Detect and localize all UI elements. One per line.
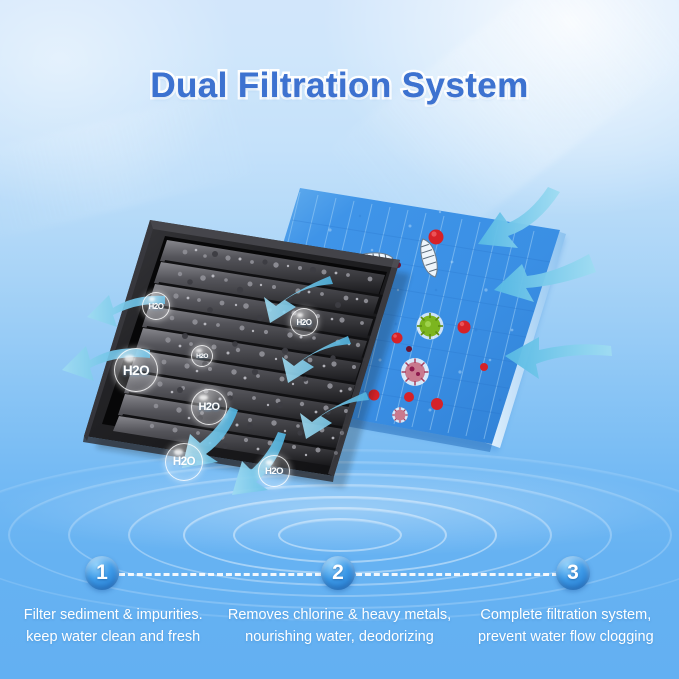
- light-streak-diagonal: [322, 0, 679, 271]
- caption-line-1: Filter sediment & impurities.: [0, 604, 226, 626]
- page-title: Dual Filtration System: [0, 66, 679, 106]
- h2o-label: H2O: [196, 353, 208, 360]
- virus-icon: [345, 297, 361, 313]
- red-particle-highlight: [372, 231, 464, 337]
- caption-line-2: prevent water flow clogging: [453, 626, 679, 648]
- water-inflow-arrows: [478, 187, 612, 379]
- h2o-bubble: H2O: [165, 443, 203, 481]
- bacteria-rod-icon: [416, 237, 442, 279]
- red-particle: [336, 230, 489, 411]
- inflow-arrow: [478, 187, 560, 248]
- dark-dot: [360, 262, 412, 352]
- h2o-bubble: H2O: [191, 389, 227, 425]
- carbon-slats: [113, 240, 385, 466]
- infographic-canvas: Dual Filtration System Dual Filtration S…: [0, 0, 679, 679]
- carbon-granules: [150, 249, 373, 456]
- step-caption-3: Complete filtration system, prevent wate…: [453, 604, 679, 648]
- caption-line-2: nourishing water, deodorizing: [226, 626, 452, 648]
- light-streak-secondary: [0, 85, 266, 245]
- contaminant-particles: [336, 230, 489, 423]
- contaminant-transfer-arrows: [264, 276, 369, 439]
- h2o-bubble: H2O: [258, 455, 290, 487]
- algae-spiky-icon: [417, 313, 444, 340]
- h2o-label: H2O: [265, 466, 283, 477]
- caption-line-2: keep water clean and fresh: [0, 626, 226, 648]
- caption-line-1: Complete filtration system,: [453, 604, 679, 626]
- h2o-label: H2O: [123, 363, 149, 378]
- h2o-bubble: H2O: [290, 308, 318, 336]
- bacteria-rod-icon: [348, 250, 394, 272]
- virus-icon: [401, 358, 429, 386]
- h2o-label: H2O: [149, 302, 164, 311]
- top-right-glow: [319, 0, 679, 220]
- h2o-label: H2O: [297, 318, 312, 327]
- step-connector-1-2: [119, 573, 321, 576]
- h2o-label: H2O: [173, 456, 195, 468]
- h2o-label: H2O: [198, 401, 219, 413]
- step-caption-1: Filter sediment & impurities. keep water…: [0, 604, 226, 648]
- step-caption-2: Removes chlorine & heavy metals, nourish…: [226, 604, 452, 648]
- sponge-filter-pad: [234, 188, 566, 452]
- inflow-arrow: [494, 254, 596, 302]
- step-captions: Filter sediment & impurities. keep water…: [0, 604, 679, 648]
- h2o-bubble: H2O: [114, 348, 158, 392]
- caption-line-1: Removes chlorine & heavy metals,: [226, 604, 452, 626]
- h2o-bubble: H2O: [142, 292, 170, 320]
- virus-icon: [392, 407, 408, 423]
- step-number-2[interactable]: 2: [321, 556, 355, 590]
- h2o-bubble: H2O: [191, 345, 213, 367]
- inflow-arrow: [505, 337, 612, 379]
- step-number-3[interactable]: 3: [556, 556, 590, 590]
- steps-row: 1 2 3: [0, 552, 679, 598]
- step-number-1[interactable]: 1: [85, 556, 119, 590]
- step-connector-2-3: [356, 573, 558, 576]
